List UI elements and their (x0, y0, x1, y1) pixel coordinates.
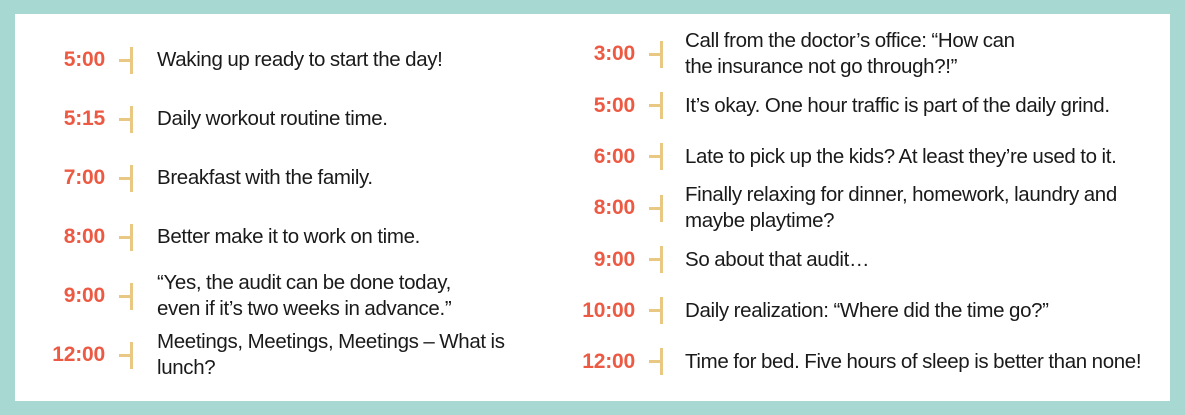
infographic-frame: 5:00 Waking up ready to start the day! 5… (0, 0, 1185, 415)
row-time: 8:00 (559, 196, 635, 219)
row-time: 5:00 (559, 94, 635, 117)
tick-mark-icon (635, 348, 679, 375)
timeline-row: 5:00 Waking up ready to start the day! (33, 31, 551, 90)
tick-mark-icon (635, 143, 679, 170)
row-description: It’s okay. One hour traffic is part of t… (679, 93, 1160, 119)
tick-mark-icon (635, 246, 679, 273)
row-description: Daily workout routine time. (149, 106, 551, 132)
timeline-row: 5:15 Daily workout routine time. (33, 90, 551, 149)
timeline-row: 9:00 So about that audit… (559, 234, 1160, 285)
timeline-row: 10:00 Daily realization: “Where did the … (559, 285, 1160, 336)
row-time: 12:00 (33, 343, 105, 366)
row-time: 9:00 (33, 284, 105, 307)
tick-mark-icon (105, 106, 149, 133)
row-description: Finally relaxing for dinner, homework, l… (679, 182, 1160, 234)
row-time: 12:00 (559, 350, 635, 373)
tick-mark-icon (635, 297, 679, 324)
row-description: Waking up ready to start the day! (149, 47, 551, 73)
timeline-row: 5:00 It’s okay. One hour traffic is part… (559, 80, 1160, 131)
timeline-panel: 5:00 Waking up ready to start the day! 5… (15, 14, 1170, 401)
timeline-row: 8:00 Better make it to work on time. (33, 208, 551, 267)
row-time: 5:15 (33, 107, 105, 130)
timeline-row: 8:00 Finally relaxing for dinner, homewo… (559, 182, 1160, 234)
tick-mark-icon (105, 47, 149, 74)
timeline-row: 12:00 Time for bed. Five hours of sleep … (559, 336, 1160, 387)
row-time: 3:00 (559, 42, 635, 65)
timeline-row: 6:00 Late to pick up the kids? At least … (559, 131, 1160, 182)
tick-mark-icon (105, 283, 149, 310)
tick-mark-icon (635, 92, 679, 119)
row-time: 5:00 (33, 48, 105, 71)
row-time: 10:00 (559, 299, 635, 322)
row-description: Late to pick up the kids? At least they’… (679, 144, 1160, 170)
tick-mark-icon (105, 165, 149, 192)
row-time: 6:00 (559, 145, 635, 168)
timeline-row: 12:00 Meetings, Meetings, Meetings – Wha… (33, 326, 551, 385)
row-description: Time for bed. Five hours of sleep is bet… (679, 349, 1160, 375)
row-description: Breakfast with the family. (149, 165, 551, 191)
tick-mark-icon (635, 195, 679, 222)
row-description: So about that audit… (679, 247, 1160, 273)
row-description: “Yes, the audit can be done today, even … (149, 270, 551, 322)
tick-mark-icon (105, 342, 149, 369)
timeline-column-left: 5:00 Waking up ready to start the day! 5… (15, 14, 555, 401)
tick-mark-icon (105, 224, 149, 251)
row-description: Better make it to work on time. (149, 224, 551, 250)
row-description: Daily realization: “Where did the time g… (679, 298, 1160, 324)
row-description: Call from the doctor’s office: “How can … (679, 28, 1160, 80)
timeline-column-right: 3:00 Call from the doctor’s office: “How… (555, 14, 1170, 401)
row-description: Meetings, Meetings, Meetings – What is l… (149, 329, 551, 381)
timeline-row: 3:00 Call from the doctor’s office: “How… (559, 28, 1160, 80)
row-time: 9:00 (559, 248, 635, 271)
row-time: 7:00 (33, 166, 105, 189)
row-time: 8:00 (33, 225, 105, 248)
timeline-row: 9:00 “Yes, the audit can be done today, … (33, 267, 551, 326)
timeline-row: 7:00 Breakfast with the family. (33, 149, 551, 208)
tick-mark-icon (635, 41, 679, 68)
